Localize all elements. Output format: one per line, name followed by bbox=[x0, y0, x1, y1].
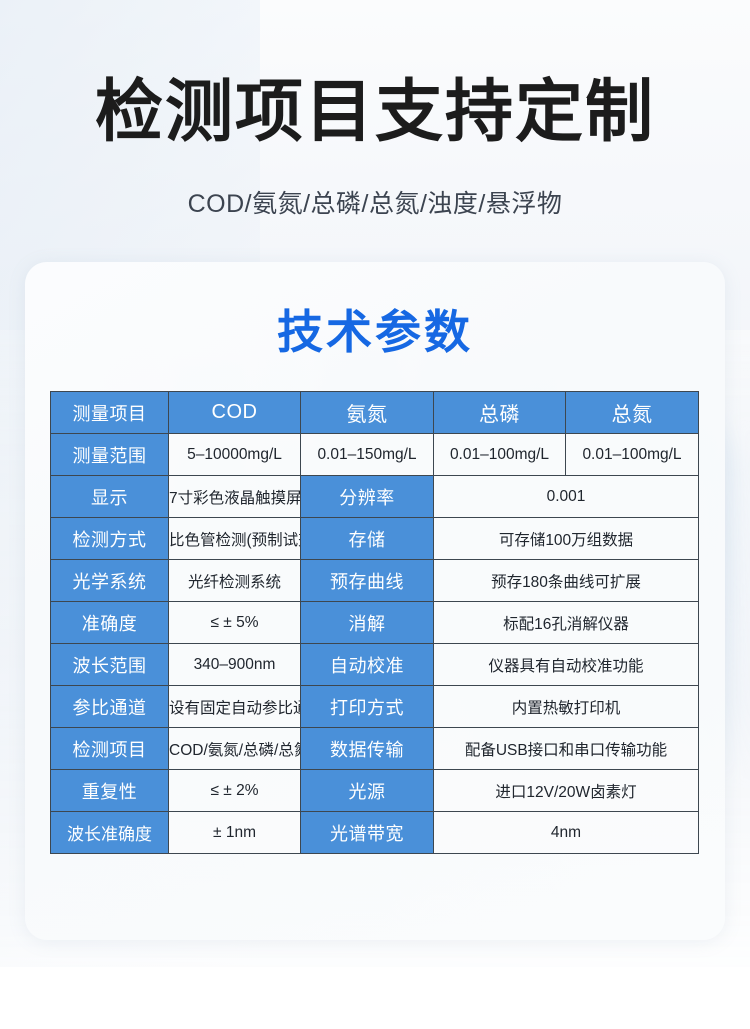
row-value-right: 仪器具有自动校准功能 bbox=[434, 644, 699, 686]
row-value-right: 0.001 bbox=[434, 476, 699, 518]
row-value-right: 内置热敏打印机 bbox=[434, 686, 699, 728]
section-title: 技术参数 bbox=[25, 296, 725, 362]
row-value-right: 进口12V/20W卤素灯 bbox=[434, 770, 699, 812]
row-label-left: 光学系统 bbox=[51, 560, 169, 602]
table-row: 准确度≤ ± 5%消解标配16孔消解仪器 bbox=[51, 602, 699, 644]
row-value-left: ≤ ± 5% bbox=[169, 602, 301, 644]
row-value-left: ± 1nm bbox=[169, 812, 301, 854]
table-row: 检测方式比色管检测(预制试剂)存储可存储100万组数据 bbox=[51, 518, 699, 560]
row-label-right: 打印方式 bbox=[301, 686, 434, 728]
row-label-right: 光谱带宽 bbox=[301, 812, 434, 854]
row-value-right: 可存储100万组数据 bbox=[434, 518, 699, 560]
header: 检测项目支持定制 COD/氨氮/总磷/总氮/浊度/悬浮物 bbox=[0, 0, 750, 220]
row-value-left: 比色管检测(预制试剂) bbox=[169, 518, 301, 560]
table-row: 波长范围340–900nm自动校准仪器具有自动校准功能 bbox=[51, 644, 699, 686]
row-value-left: 7寸彩色液晶触摸屏 bbox=[169, 476, 301, 518]
spec-card: 技术参数 测量项目COD氨氮总磷总氮测量范围5–10000mg/L0.01–15… bbox=[25, 262, 725, 940]
row-label-left: 参比通道 bbox=[51, 686, 169, 728]
table-cell: 0.01–100mg/L bbox=[566, 434, 699, 476]
row-label: 测量范围 bbox=[51, 434, 169, 476]
row-label-left: 重复性 bbox=[51, 770, 169, 812]
row-label-left: 检测方式 bbox=[51, 518, 169, 560]
table-cell: 0.01–100mg/L bbox=[434, 434, 566, 476]
page-title: 检测项目支持定制 bbox=[0, 78, 750, 146]
table-row: 测量范围5–10000mg/L0.01–150mg/L0.01–100mg/L0… bbox=[51, 434, 699, 476]
row-value-left: COD/氨氮/总磷/总氮 bbox=[169, 728, 301, 770]
row-value-right: 标配16孔消解仪器 bbox=[434, 602, 699, 644]
row-value-right: 预存180条曲线可扩展 bbox=[434, 560, 699, 602]
row-label-right: 数据传输 bbox=[301, 728, 434, 770]
table-row: 波长准确度± 1nm光谱带宽4nm bbox=[51, 812, 699, 854]
row-value-left: 光纤检测系统 bbox=[169, 560, 301, 602]
row-label-right: 光源 bbox=[301, 770, 434, 812]
table-row: 显示7寸彩色液晶触摸屏分辨率0.001 bbox=[51, 476, 699, 518]
row-label: 测量项目 bbox=[51, 392, 169, 434]
table-cell: 5–10000mg/L bbox=[169, 434, 301, 476]
table-row: 重复性≤ ± 2%光源进口12V/20W卤素灯 bbox=[51, 770, 699, 812]
column-header: 总磷 bbox=[434, 392, 566, 434]
table-row: 测量项目COD氨氮总磷总氮 bbox=[51, 392, 699, 434]
row-label-left: 准确度 bbox=[51, 602, 169, 644]
row-label-right: 自动校准 bbox=[301, 644, 434, 686]
row-label-right: 消解 bbox=[301, 602, 434, 644]
row-value-left: 设有固定自动参比通道 bbox=[169, 686, 301, 728]
technical-parameters-table: 测量项目COD氨氮总磷总氮测量范围5–10000mg/L0.01–150mg/L… bbox=[50, 391, 699, 854]
row-value-right: 4nm bbox=[434, 812, 699, 854]
table-row: 检测项目COD/氨氮/总磷/总氮数据传输配备USB接口和串口传输功能 bbox=[51, 728, 699, 770]
bottom-white-strip bbox=[0, 967, 750, 1029]
row-label-left: 检测项目 bbox=[51, 728, 169, 770]
row-label-left: 显示 bbox=[51, 476, 169, 518]
row-label-left: 波长准确度 bbox=[51, 812, 169, 854]
table-row: 光学系统光纤检测系统预存曲线预存180条曲线可扩展 bbox=[51, 560, 699, 602]
row-value-left: ≤ ± 2% bbox=[169, 770, 301, 812]
row-label-right: 分辨率 bbox=[301, 476, 434, 518]
row-label-right: 存储 bbox=[301, 518, 434, 560]
page-subtitle: COD/氨氮/总磷/总氮/浊度/悬浮物 bbox=[0, 184, 750, 220]
row-value-left: 340–900nm bbox=[169, 644, 301, 686]
row-label-right: 预存曲线 bbox=[301, 560, 434, 602]
table-cell: 0.01–150mg/L bbox=[301, 434, 434, 476]
column-header: 氨氮 bbox=[301, 392, 434, 434]
row-label-left: 波长范围 bbox=[51, 644, 169, 686]
table-row: 参比通道设有固定自动参比通道打印方式内置热敏打印机 bbox=[51, 686, 699, 728]
row-value-right: 配备USB接口和串口传输功能 bbox=[434, 728, 699, 770]
column-header: 总氮 bbox=[566, 392, 699, 434]
column-header: COD bbox=[169, 392, 301, 434]
